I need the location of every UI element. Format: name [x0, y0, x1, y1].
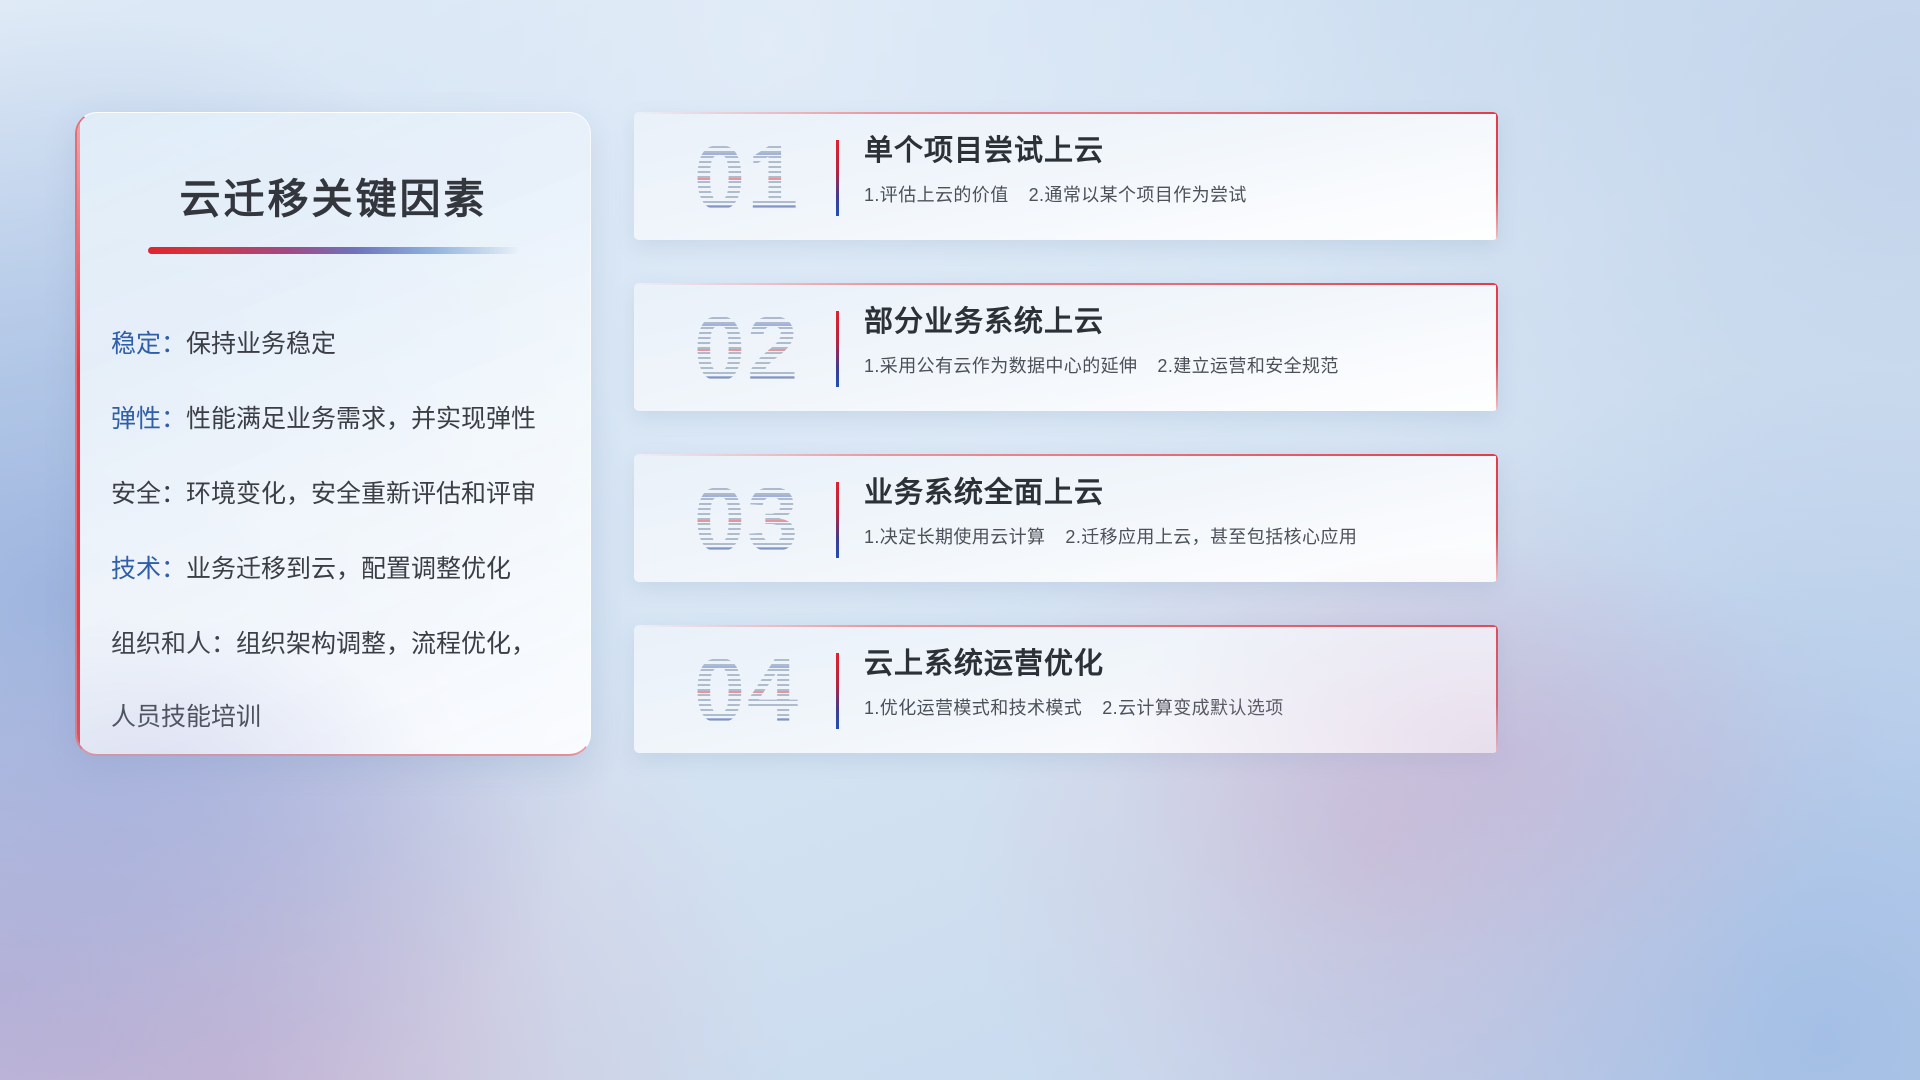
factor-label: 技术：	[111, 555, 186, 583]
stage-card[interactable]: 0303业务系统全面上云1.决定长期使用云计算2.迁移应用上云，甚至包括核心应用	[634, 454, 1498, 582]
card-body: 云上系统运营优化1.优化运营模式和技术模式2.云计算变成默认选项	[864, 647, 1472, 720]
card-subtitle-point-1: 1.采用公有云作为数据中心的延伸	[864, 356, 1137, 376]
card-divider-rule	[836, 140, 839, 216]
stage-card[interactable]: 0101单个项目尝试上云1.评估上云的价值2.通常以某个项目作为尝试	[634, 112, 1498, 240]
factor-text: 人员技能培训	[111, 703, 261, 731]
card-subtitle-point-1: 1.优化运营模式和技术模式	[864, 698, 1082, 718]
factor-label: 组织和人：	[111, 630, 236, 658]
card-title: 部分业务系统上云	[864, 305, 1472, 339]
factor-item: 稳定：保持业务稳定	[111, 332, 590, 357]
factor-text: 业务迁移到云，配置调整优化	[186, 555, 511, 583]
card-body: 业务系统全面上云1.决定长期使用云计算2.迁移应用上云，甚至包括核心应用	[864, 476, 1472, 549]
factor-label: 弹性：	[111, 405, 186, 433]
card-subtitle: 1.决定长期使用云计算2.迁移应用上云，甚至包括核心应用	[864, 523, 1472, 549]
card-divider-rule	[836, 653, 839, 729]
card-subtitle: 1.采用公有云作为数据中心的延伸2.建立运营和安全规范	[864, 352, 1472, 378]
card-title: 云上系统运营优化	[864, 647, 1472, 681]
factor-text: 性能满足业务需求，并实现弹性	[186, 405, 536, 433]
factor-text: 组织架构调整，流程优化，	[236, 630, 536, 658]
card-subtitle: 1.优化运营模式和技术模式2.云计算变成默认选项	[864, 694, 1472, 720]
card-title: 业务系统全面上云	[864, 476, 1472, 510]
card-divider-rule	[836, 482, 839, 558]
page-title: 云迁移关键因素	[77, 165, 590, 225]
stage-number: 01	[662, 126, 832, 230]
factor-text: 环境变化，安全重新评估和评审	[186, 480, 536, 508]
factor-item: 人员技能培训	[111, 705, 590, 730]
factor-label: 稳定：	[111, 330, 186, 358]
factor-text: 保持业务稳定	[186, 330, 336, 358]
card-title: 单个项目尝试上云	[864, 134, 1472, 168]
key-factors-panel: 云迁移关键因素 稳定：保持业务稳定弹性：性能满足业务需求，并实现弹性安全：环境变…	[75, 112, 591, 756]
stage-card[interactable]: 0404云上系统运营优化1.优化运营模式和技术模式2.云计算变成默认选项	[634, 625, 1498, 753]
card-subtitle-point-2: 2.建立运营和安全规范	[1157, 356, 1338, 376]
card-subtitle-point-1: 1.决定长期使用云计算	[864, 527, 1045, 547]
card-subtitle-point-2: 2.迁移应用上云，甚至包括核心应用	[1065, 527, 1357, 547]
slide-root: 云迁移关键因素 稳定：保持业务稳定弹性：性能满足业务需求，并实现弹性安全：环境变…	[0, 0, 1920, 1080]
stage-number: 04	[662, 639, 832, 743]
factor-item: 安全：环境变化，安全重新评估和评审	[111, 482, 590, 507]
title-underline-rule	[148, 247, 520, 254]
card-subtitle: 1.评估上云的价值2.通常以某个项目作为尝试	[864, 181, 1472, 207]
card-body: 部分业务系统上云1.采用公有云作为数据中心的延伸2.建立运营和安全规范	[864, 305, 1472, 378]
factor-item: 弹性：性能满足业务需求，并实现弹性	[111, 407, 590, 432]
card-body: 单个项目尝试上云1.评估上云的价值2.通常以某个项目作为尝试	[864, 134, 1472, 207]
card-subtitle-point-1: 1.评估上云的价值	[864, 185, 1009, 205]
factor-item: 技术：业务迁移到云，配置调整优化	[111, 557, 590, 582]
stage-number: 03	[662, 468, 832, 572]
factor-item: 组织和人：组织架构调整，流程优化，	[111, 632, 590, 657]
card-subtitle-point-2: 2.通常以某个项目作为尝试	[1029, 185, 1247, 205]
stage-card-list: 0101单个项目尝试上云1.评估上云的价值2.通常以某个项目作为尝试0202部分…	[634, 112, 1498, 796]
stage-number: 02	[662, 297, 832, 401]
factor-list: 稳定：保持业务稳定弹性：性能满足业务需求，并实现弹性安全：环境变化，安全重新评估…	[111, 332, 590, 730]
card-divider-rule	[836, 311, 839, 387]
card-subtitle-point-2: 2.云计算变成默认选项	[1102, 698, 1283, 718]
stage-card[interactable]: 0202部分业务系统上云1.采用公有云作为数据中心的延伸2.建立运营和安全规范	[634, 283, 1498, 411]
factor-label: 安全：	[111, 480, 186, 508]
